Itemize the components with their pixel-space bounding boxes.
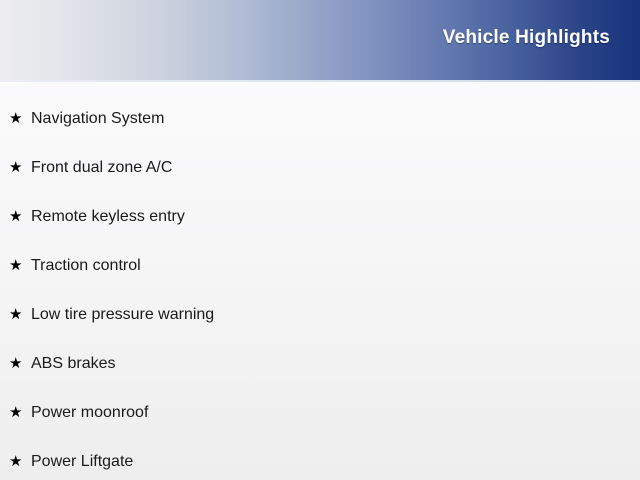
highlight-label: Navigation System xyxy=(31,111,164,127)
list-item: ★ Power Liftgate xyxy=(0,437,640,480)
highlight-label: Remote keyless entry xyxy=(31,209,185,225)
star-bullet-icon: ★ xyxy=(9,405,31,420)
highlight-label: Power Liftgate xyxy=(31,454,133,470)
star-bullet-icon: ★ xyxy=(9,209,31,224)
star-bullet-icon: ★ xyxy=(9,307,31,322)
list-item: ★ Navigation System xyxy=(0,94,640,143)
star-bullet-icon: ★ xyxy=(9,111,31,126)
highlight-label: ABS brakes xyxy=(31,356,115,372)
star-bullet-icon: ★ xyxy=(9,258,31,273)
vehicle-highlights-list: ★ Navigation System ★ Front dual zone A/… xyxy=(0,94,640,480)
star-bullet-icon: ★ xyxy=(9,356,31,371)
page-title: Vehicle Highlights xyxy=(443,27,640,49)
header-banner: Vehicle Highlights xyxy=(0,0,640,80)
highlight-label: Traction control xyxy=(31,258,141,274)
list-item: ★ Power moonroof xyxy=(0,388,640,437)
star-bullet-icon: ★ xyxy=(9,454,31,469)
header-divider xyxy=(0,80,640,82)
vehicle-highlights-slide: Vehicle Highlights ★ Navigation System ★… xyxy=(0,0,640,480)
list-item: ★ Traction control xyxy=(0,241,640,290)
star-bullet-icon: ★ xyxy=(9,160,31,175)
list-item: ★ ABS brakes xyxy=(0,339,640,388)
list-item: ★ Remote keyless entry xyxy=(0,192,640,241)
highlight-label: Power moonroof xyxy=(31,405,148,421)
highlight-label: Front dual zone A/C xyxy=(31,160,172,176)
list-item: ★ Front dual zone A/C xyxy=(0,143,640,192)
list-item: ★ Low tire pressure warning xyxy=(0,290,640,339)
highlight-label: Low tire pressure warning xyxy=(31,307,214,323)
